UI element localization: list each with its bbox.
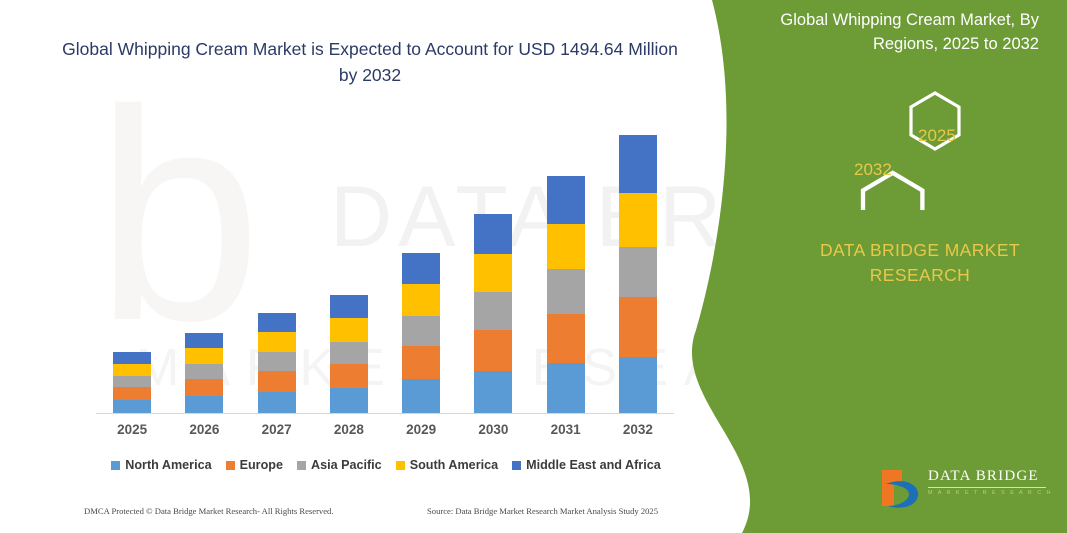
bar-segment — [258, 371, 296, 392]
bar-segment — [619, 357, 657, 413]
legend-label: Asia Pacific — [311, 458, 382, 472]
x-axis-tick-2029: 2029 — [386, 422, 456, 437]
hexagon-shapes — [815, 85, 1015, 210]
bar-stack-2027[interactable] — [258, 313, 296, 413]
bar-segment — [258, 332, 296, 352]
legend-label: North America — [125, 458, 211, 472]
bar-segment — [113, 364, 151, 376]
x-axis-tick-2027: 2027 — [242, 422, 312, 437]
bar-segment — [330, 342, 368, 364]
x-axis-tick-2025: 2025 — [97, 422, 167, 437]
bar-segment — [330, 364, 368, 388]
legend-swatch-icon — [396, 461, 405, 470]
chart-plot-area — [96, 120, 674, 414]
bar-segment — [619, 247, 657, 297]
bar-segment — [402, 284, 440, 316]
bar-segment — [185, 396, 223, 413]
bar-segment — [185, 348, 223, 364]
chart-title: Global Whipping Cream Market is Expected… — [60, 36, 680, 88]
bar-segment — [185, 333, 223, 348]
bar-stack-2028[interactable] — [330, 295, 368, 413]
bar-stack-2029[interactable] — [402, 253, 440, 413]
bar-stack-2031[interactable] — [547, 176, 585, 413]
logo-mark-icon — [876, 466, 924, 512]
hexagon-group: 2025 2032 — [815, 85, 1015, 210]
x-axis-tick-2030: 2030 — [458, 422, 528, 437]
bar-segment — [547, 314, 585, 363]
bar-segment — [113, 387, 151, 400]
legend-item[interactable]: Middle East and Africa — [512, 458, 661, 472]
legend-item[interactable]: Asia Pacific — [297, 458, 382, 472]
bar-segment — [547, 363, 585, 413]
bar-segment — [113, 376, 151, 387]
bar-segment — [619, 135, 657, 193]
bar-segment — [185, 379, 223, 396]
logo-subtitle: M A R K E T R E S E A R C H — [928, 490, 1058, 496]
x-axis-tick-2028: 2028 — [314, 422, 384, 437]
bar-stack-2026[interactable] — [185, 333, 223, 413]
bar-segment — [330, 295, 368, 318]
bar-segment — [547, 176, 585, 224]
bar-segment — [113, 352, 151, 364]
x-axis-tick-2026: 2026 — [169, 422, 239, 437]
bar-stack-2030[interactable] — [474, 214, 512, 413]
x-axis-line — [96, 413, 674, 414]
bar-segment — [258, 392, 296, 413]
footer-source: Source: Data Bridge Market Research Mark… — [427, 506, 658, 516]
hexagon-label-2025: 2025 — [918, 126, 956, 146]
legend-label: Europe — [240, 458, 283, 472]
legend-swatch-icon — [226, 461, 235, 470]
bar-segment — [474, 254, 512, 292]
logo-title: DATA BRIDGE — [928, 468, 1058, 485]
bar-segment — [474, 330, 512, 371]
legend-item[interactable]: South America — [396, 458, 498, 472]
bar-stack-2025[interactable] — [113, 352, 151, 413]
footer-copyright: DMCA Protected © Data Bridge Market Rese… — [84, 506, 334, 516]
bar-segment — [258, 352, 296, 371]
bar-segment — [547, 224, 585, 269]
bar-segment — [330, 388, 368, 413]
bar-segment — [619, 297, 657, 357]
logo-divider — [928, 487, 1046, 488]
legend-item[interactable]: Europe — [226, 458, 283, 472]
x-axis-tick-2032: 2032 — [603, 422, 673, 437]
bar-segment — [402, 379, 440, 413]
bar-segment — [619, 193, 657, 247]
panel-brand-name: DATA BRIDGE MARKET RESEARCH — [790, 238, 1050, 288]
footer: DMCA Protected © Data Bridge Market Rese… — [84, 506, 674, 522]
legend-label: South America — [410, 458, 498, 472]
legend-swatch-icon — [111, 461, 120, 470]
bar-segment — [330, 318, 368, 342]
bar-segment — [474, 371, 512, 413]
legend-item[interactable]: North America — [111, 458, 211, 472]
data-bridge-logo: DATA BRIDGE M A R K E T R E S E A R C H — [876, 466, 1056, 514]
panel-title: Global Whipping Cream Market, By Regions… — [734, 8, 1039, 56]
chart-legend: North AmericaEuropeAsia PacificSouth Ame… — [96, 455, 676, 475]
logo-text-block: DATA BRIDGE M A R K E T R E S E A R C H — [928, 468, 1058, 496]
bar-segment — [258, 313, 296, 332]
legend-label: Middle East and Africa — [526, 458, 661, 472]
bar-segment — [402, 253, 440, 284]
legend-swatch-icon — [512, 461, 521, 470]
legend-swatch-icon — [297, 461, 306, 470]
bar-segment — [474, 214, 512, 254]
bar-segment — [402, 346, 440, 379]
x-axis-labels: 20252026202720282029203020312032 — [96, 422, 674, 446]
bar-stack-2032[interactable] — [619, 135, 657, 413]
bar-segment — [474, 292, 512, 330]
bar-segment — [185, 364, 223, 379]
bar-segment — [402, 316, 440, 346]
infographic-root: b DATA BRIDGE MARKET RESEARCH Global Whi… — [0, 0, 1067, 533]
hexagon-label-2032: 2032 — [854, 160, 892, 180]
bar-segment — [547, 269, 585, 314]
x-axis-tick-2031: 2031 — [531, 422, 601, 437]
bar-segment — [113, 400, 151, 413]
